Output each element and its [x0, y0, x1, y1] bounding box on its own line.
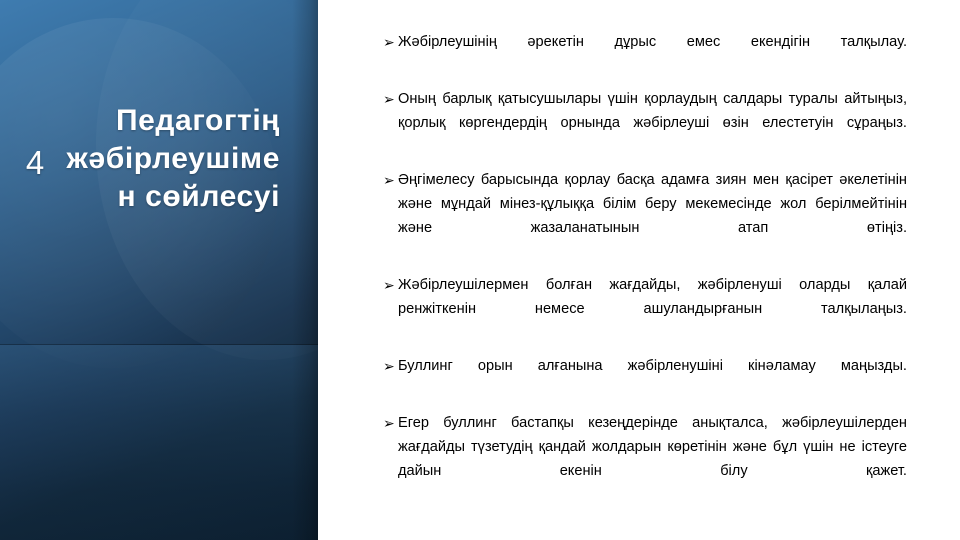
slide-title: Педагогтің жәбірлеушімен сөйлесуі [52, 102, 280, 216]
list-item: ➢ Оның барлық қатысушылары үшін қорлауды… [383, 87, 907, 159]
list-item: ➢ Әңгімелесу барысында қорлау басқа адам… [383, 168, 907, 264]
arrowhead-bullet-icon: ➢ [383, 87, 398, 111]
list-item: ➢ Жәбірлеушілермен болған жағдайды, жәбі… [383, 273, 907, 345]
list-item-text: Әңгімелесу барысында қорлау басқа адамға… [398, 168, 907, 264]
list-item-text: Егер буллинг бастапқы кезеңдерінде анықт… [398, 411, 907, 507]
decorative-band [0, 345, 318, 540]
list-item-text: Жәбірлеушінің әрекетін дұрыс емес екенді… [398, 30, 907, 78]
presentation-slide: 4 Педагогтің жәбірлеушімен сөйлесуі ➢ Жә… [0, 0, 960, 540]
list-item-text: Оның барлық қатысушылары үшін қорлаудың … [398, 87, 907, 159]
arrowhead-bullet-icon: ➢ [383, 354, 398, 378]
slide-number: 4 [18, 143, 52, 183]
title-panel [0, 0, 318, 540]
panel-edge-shadow [292, 0, 318, 540]
list-item-text: Жәбірлеушілермен болған жағдайды, жәбірл… [398, 273, 907, 345]
arrowhead-bullet-icon: ➢ [383, 411, 398, 435]
list-item: ➢ Жәбірлеушінің әрекетін дұрыс емес екен… [383, 30, 907, 78]
arrowhead-bullet-icon: ➢ [383, 30, 398, 54]
arrowhead-bullet-icon: ➢ [383, 168, 398, 192]
bullet-list: ➢ Жәбірлеушінің әрекетін дұрыс емес екен… [383, 30, 907, 507]
list-item: ➢ Егер буллинг бастапқы кезеңдерінде аны… [383, 411, 907, 507]
list-item: ➢ Буллинг орын алғанына жәбірленушіні кі… [383, 354, 907, 402]
list-item-text: Буллинг орын алғанына жәбірленушіні кінә… [398, 354, 907, 402]
arrowhead-bullet-icon: ➢ [383, 273, 398, 297]
